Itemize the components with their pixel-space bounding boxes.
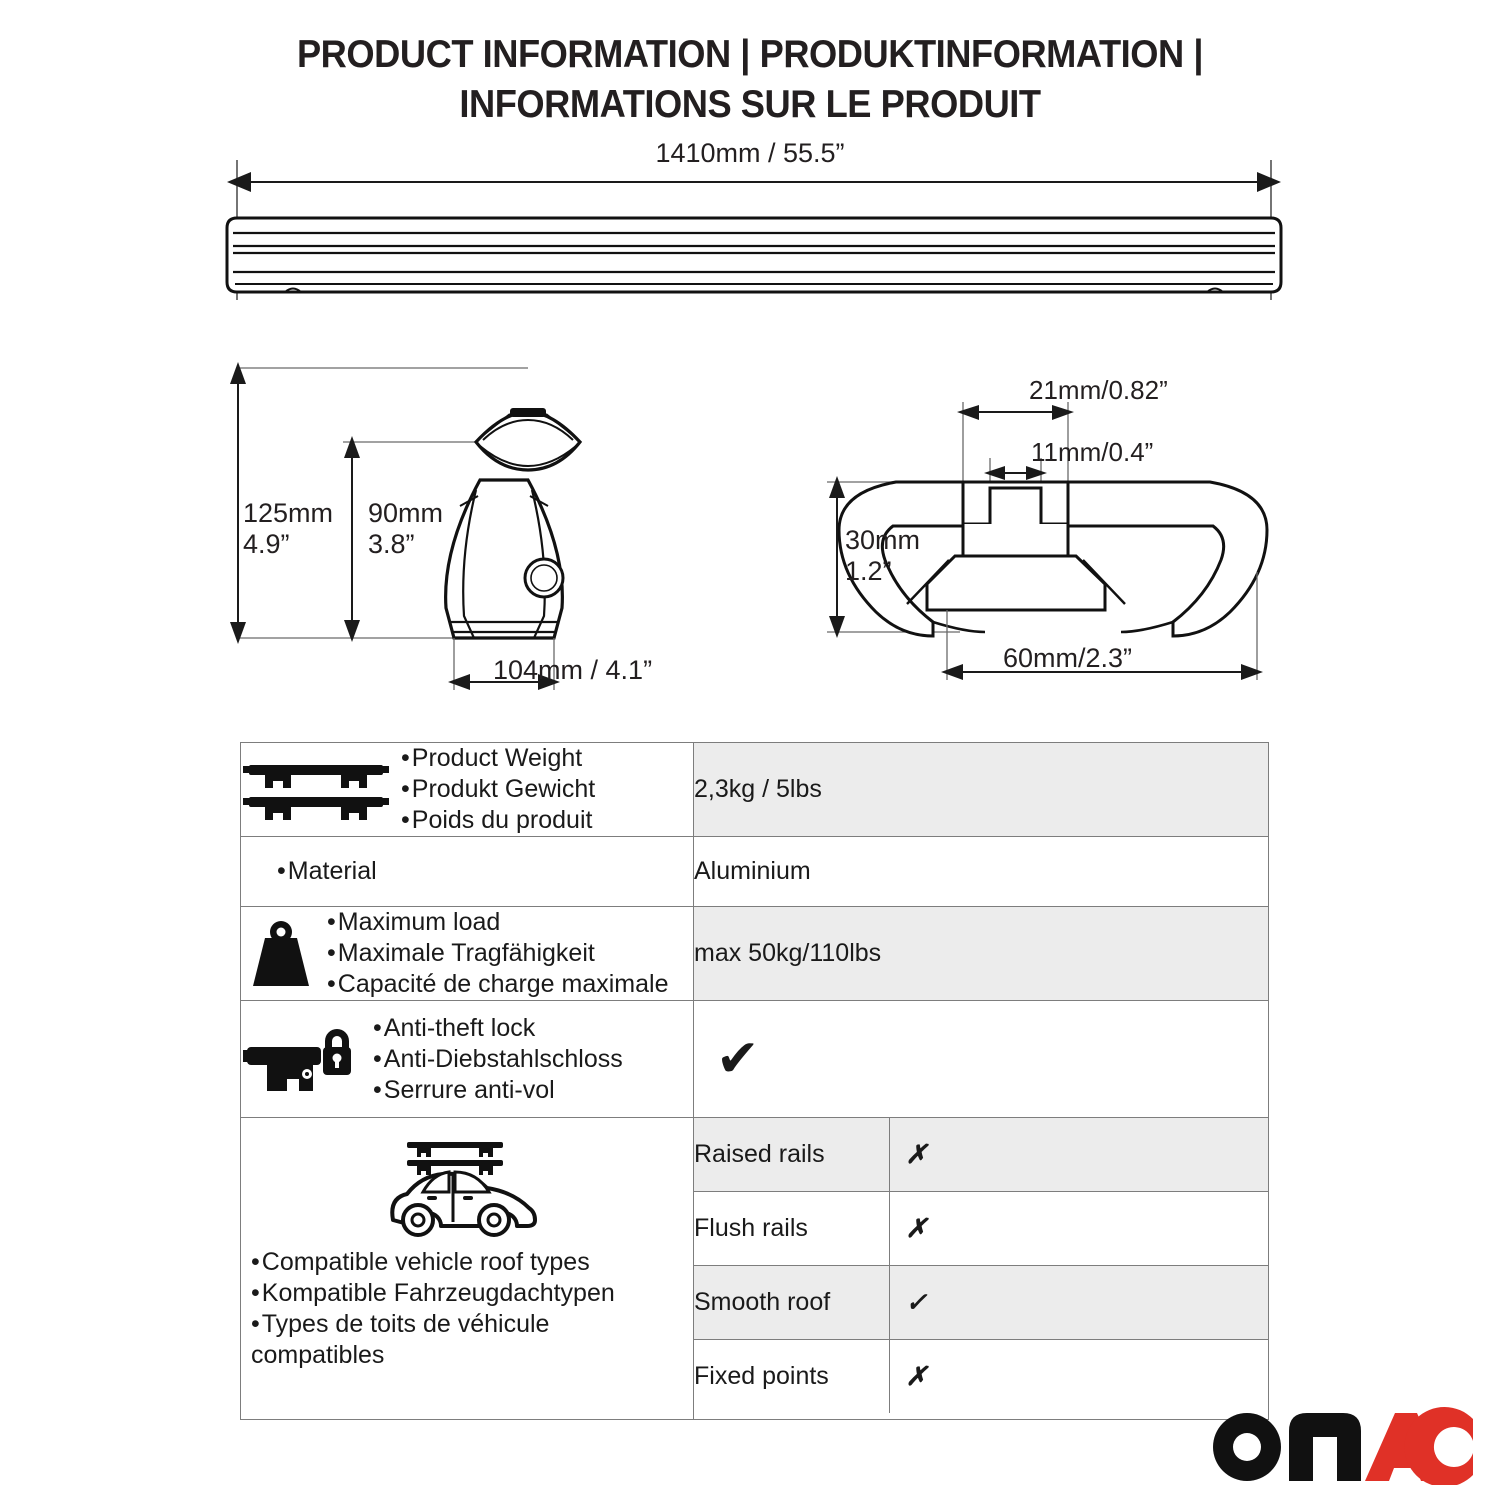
table-row-material: Material Aluminium (241, 837, 1269, 907)
section-slot-outer-label: 21mm/0.82” (1029, 375, 1168, 406)
label-en: Maximum load (327, 907, 669, 938)
label-en: Product Weight (401, 743, 595, 774)
table-row-compatible-roof-types: Compatible vehicle roof types Kompatible… (241, 1118, 1269, 1420)
row-value-product-weight: 2,3kg / 5lbs (694, 743, 1269, 837)
row-value-material: Aluminium (694, 837, 1269, 907)
roof-type-row-fixed-points: Fixed points ✗ (694, 1340, 1268, 1414)
foot-total-height-label: 125mm 4.9” (243, 498, 333, 560)
row-value-maximum-load: max 50kg/110lbs (694, 907, 1269, 1001)
label-en: Anti-theft lock (373, 1013, 623, 1044)
row-label-text-group: Maximum load Maximale Tragfähigkeit Capa… (327, 907, 669, 1000)
page-title: PRODUCT INFORMATION | PRODUKTINFORMATION… (53, 30, 1448, 130)
roof-type-support: ✗ (889, 1118, 1268, 1192)
table-row-anti-theft-lock: Anti-theft lock Anti-Diebstahlschloss Se… (241, 1001, 1269, 1118)
label-de: Maximale Tragfähigkeit (327, 938, 669, 969)
weight-icon (241, 918, 321, 990)
cross-icon: ✗ (890, 1214, 1269, 1244)
checkmark-icon: ✓ (890, 1288, 1269, 1318)
section-height-label: 30mm 1.2” (845, 525, 920, 587)
row-label-maximum-load: Maximum load Maximale Tragfähigkeit Capa… (241, 907, 694, 1001)
section-slot-inner-label: 11mm/0.4” (1031, 437, 1153, 468)
car-with-bars-icon (381, 1134, 541, 1239)
row-label-text-group: Compatible vehicle roof types Kompatible… (251, 1247, 651, 1371)
roof-type-name: Raised rails (694, 1118, 889, 1192)
product-information-sheet: PRODUCT INFORMATION | PRODUKTINFORMATION… (0, 0, 1500, 1500)
page-title-line-2: INFORMATIONS SUR LE PRODUIT (53, 80, 1448, 130)
bar-top-view-figure (225, 160, 1285, 305)
page-title-line-1: PRODUCT INFORMATION | PRODUKTINFORMATION… (53, 30, 1448, 80)
label-de: Produkt Gewicht (401, 774, 595, 805)
label-de: Anti-Diebstahlschloss (373, 1044, 623, 1075)
table-row-maximum-load: Maximum load Maximale Tragfähigkeit Capa… (241, 907, 1269, 1001)
row-label-anti-theft-lock: Anti-theft lock Anti-Diebstahlschloss Se… (241, 1001, 694, 1118)
roof-type-support: ✗ (889, 1192, 1268, 1266)
lock-icon (241, 1021, 361, 1097)
label-de: Kompatible Fahrzeugdachtypen (251, 1278, 651, 1309)
roof-type-name: Smooth roof (694, 1266, 889, 1340)
label-en: Material (277, 856, 377, 887)
roof-type-name: Fixed points (694, 1340, 889, 1414)
cross-icon: ✗ (890, 1140, 1269, 1170)
label-fr: Serrure anti-vol (373, 1075, 623, 1106)
row-value-anti-theft-lock: ✔ (694, 1001, 1269, 1118)
table-row-product-weight: Product Weight Produkt Gewicht Poids du … (241, 743, 1269, 837)
roof-bars-icon (241, 755, 391, 825)
label-fr: Poids du produit (401, 805, 595, 836)
roof-type-support: ✓ (889, 1266, 1268, 1340)
specification-table: Product Weight Produkt Gewicht Poids du … (240, 742, 1269, 1420)
label-fr: Types de toits de véhicule compatibles (251, 1309, 651, 1371)
roof-type-row-raised-rails: Raised rails ✗ (694, 1118, 1268, 1192)
row-label-text-group: Product Weight Produkt Gewicht Poids du … (401, 743, 595, 836)
roof-type-compatibility-cell: Raised rails ✗ Flush rails ✗ (694, 1118, 1269, 1420)
roof-type-name: Flush rails (694, 1192, 889, 1266)
section-width-label: 60mm/2.3” (1003, 643, 1132, 674)
foot-inner-height-label: 90mm 3.8” (368, 498, 443, 560)
roof-type-row-smooth-roof: Smooth roof ✓ (694, 1266, 1268, 1340)
label-fr: Capacité de charge maximale (327, 969, 669, 1000)
row-label-material: Material (241, 837, 694, 907)
checkmark-icon: ✔ (694, 1033, 1268, 1085)
row-label-product-weight: Product Weight Produkt Gewicht Poids du … (241, 743, 694, 837)
omac-logo (1205, 1405, 1475, 1485)
cross-icon: ✗ (890, 1362, 1269, 1392)
roof-type-support: ✗ (889, 1340, 1268, 1414)
roof-type-table: Raised rails ✗ Flush rails ✗ (694, 1118, 1268, 1413)
label-en: Compatible vehicle roof types (251, 1247, 651, 1278)
roof-type-row-flush-rails: Flush rails ✗ (694, 1192, 1268, 1266)
row-label-text-group: Anti-theft lock Anti-Diebstahlschloss Se… (373, 1013, 623, 1106)
row-label-compatible-roof-types: Compatible vehicle roof types Kompatible… (241, 1118, 694, 1420)
foot-base-width-label: 104mm / 4.1” (493, 655, 652, 686)
